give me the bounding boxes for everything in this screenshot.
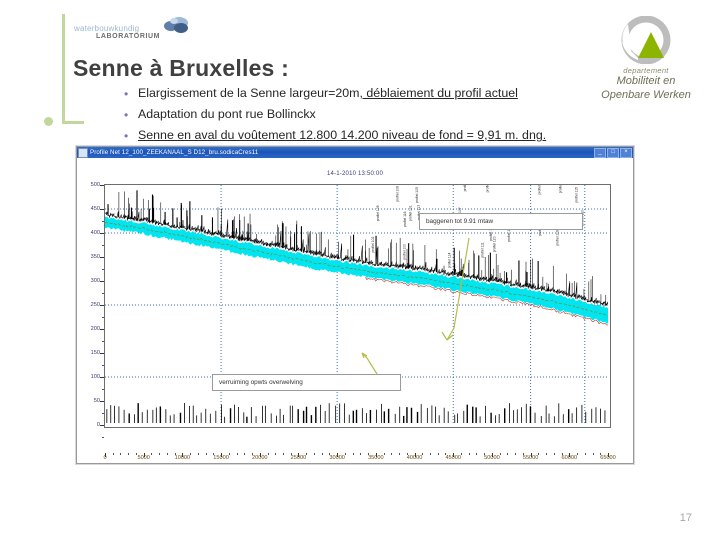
bullet-dot: •: [124, 129, 128, 143]
x-minor-tick: [190, 453, 191, 455]
x-tick-label: 65000: [591, 455, 625, 461]
x-minor-tick: [585, 453, 586, 455]
x-minor-tick: [538, 453, 539, 455]
x-tick-label: 45000: [436, 455, 470, 461]
window-controls[interactable]: _ □ ×: [594, 148, 632, 158]
x-minor-tick: [391, 453, 392, 455]
app-window-icon: [78, 148, 88, 158]
list-item: •Senne en aval du voûtement 12.800 14.20…: [122, 128, 622, 143]
x-minor-tick: [306, 453, 307, 455]
x-tick-label: 10000: [165, 455, 199, 461]
bullet-text: Adaptation du pont rue Bollinckx: [138, 107, 316, 121]
x-minor-tick: [353, 453, 354, 455]
bullet-list: •Elargissement de la Senne largeur=20m, …: [122, 86, 622, 149]
x-minor-tick: [384, 453, 385, 455]
x-minor-tick: [268, 453, 269, 455]
logo-word: waterbouwkundig: [74, 24, 139, 33]
list-item: •Adaptation du pont rue Bollinckx: [122, 107, 622, 122]
maximize-button[interactable]: □: [607, 148, 619, 158]
y-tick-label: 100: [80, 374, 100, 380]
x-minor-tick: [113, 453, 114, 455]
x-minor-tick: [469, 453, 470, 455]
x-minor-tick: [120, 453, 121, 455]
x-tick-label: 55000: [514, 455, 548, 461]
baggeren-callout: baggeren tot 9.91 mtaw: [419, 213, 583, 230]
window-title-bar[interactable]: Profile Net 12_100_ZEEKANAAL_S D12_bru.s…: [77, 147, 633, 158]
logo-subword: LABORATORIUM: [96, 33, 160, 40]
window-title: Profile Net 12_100_ZEEKANAAL_S D12_bru.s…: [90, 149, 258, 156]
y-tick-label: 350: [80, 254, 100, 260]
x-tick-label: 15000: [204, 455, 238, 461]
x-minor-tick: [577, 453, 578, 455]
x-tick-label: 35000: [359, 455, 393, 461]
y-tick-label: 450: [80, 206, 100, 212]
slide-accent-foot: [62, 121, 84, 124]
bullet-dot: •: [124, 87, 128, 101]
bullet-text-underlined: , déblaiement du profil actuel: [359, 86, 517, 100]
y-tick-label: 50: [80, 398, 100, 404]
x-minor-tick: [430, 453, 431, 455]
minimize-button[interactable]: _: [594, 148, 606, 158]
departement-logo: departement Mobiliteit en Openbare Werke…: [580, 16, 712, 96]
x-tick-label: 25000: [281, 455, 315, 461]
x-minor-tick: [151, 453, 152, 455]
y-tick-label: 200: [80, 326, 100, 332]
y-tick-label: 0: [80, 422, 100, 428]
x-tick-label: 50000: [475, 455, 509, 461]
y-tick-label: 300: [80, 278, 100, 284]
x-tick-label: 5000: [127, 455, 161, 461]
x-tick-label: 40000: [398, 455, 432, 461]
x-minor-tick: [237, 453, 238, 455]
embedded-app-window[interactable]: Profile Net 12_100_ZEEKANAAL_S D12_bru.s…: [76, 146, 634, 464]
page-number: 17: [680, 512, 692, 524]
window-body: 14-1-2010 13:50:00 profiel 100profiel 10…: [77, 158, 633, 462]
waterbouwkundig-logo: waterbouwkundig LABORATORIUM: [74, 16, 194, 48]
dept-label: departement: [580, 66, 712, 75]
bullet-text: Elargissement de la Senne largeur=20m: [138, 86, 359, 100]
list-item: •Elargissement de la Senne largeur=20m, …: [122, 86, 622, 101]
y-tick-label: 150: [80, 350, 100, 356]
x-tick-label: 20000: [243, 455, 277, 461]
x-minor-tick: [159, 453, 160, 455]
y-tick-label: 250: [80, 302, 100, 308]
water-droplet-blob-icon: [160, 16, 190, 36]
chart-title: 14-1-2010 13:50:00: [77, 171, 633, 177]
x-minor-tick: [461, 453, 462, 455]
x-minor-tick: [507, 453, 508, 455]
x-tick-label: 60000: [552, 455, 586, 461]
close-button[interactable]: ×: [620, 148, 632, 158]
slide-accent-bar: [62, 14, 65, 124]
x-minor-tick: [198, 453, 199, 455]
circle-triangle-icon: [618, 16, 674, 64]
x-minor-tick: [229, 453, 230, 455]
page-title: Senne à Bruxelles :: [73, 55, 289, 82]
x-tick-label: 0: [88, 455, 122, 461]
x-minor-tick: [422, 453, 423, 455]
y-minor-tick: [102, 437, 104, 438]
x-minor-tick: [500, 453, 501, 455]
bullet-text: Senne en aval du voûtement 12.800 14.200…: [138, 128, 546, 142]
x-minor-tick: [546, 453, 547, 455]
verruiming-callout: verruiming opwts overwelving: [212, 374, 401, 391]
x-minor-tick: [314, 453, 315, 455]
x-minor-tick: [345, 453, 346, 455]
y-tick-label: 500: [80, 182, 100, 188]
y-tick-label: 400: [80, 230, 100, 236]
x-minor-tick: [275, 453, 276, 455]
bullet-dot: •: [124, 108, 128, 122]
slide-accent-dot: [44, 117, 53, 126]
x-tick-label: 30000: [320, 455, 354, 461]
